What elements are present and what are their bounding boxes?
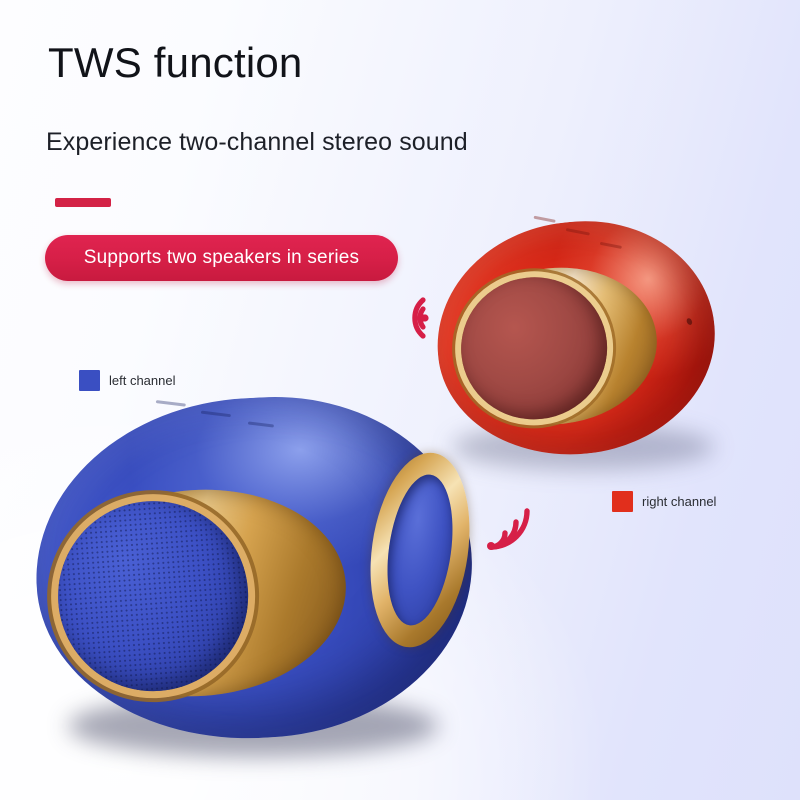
blue-speaker — [36, 398, 472, 738]
legend-right-channel: right channel — [612, 491, 716, 512]
red-speaker-buttons — [529, 215, 652, 263]
legend-swatch-left — [79, 370, 100, 391]
legend-left-channel: left channel — [79, 370, 176, 391]
accent-dash — [55, 198, 111, 207]
feature-badge-label: Supports two speakers in series — [84, 247, 360, 269]
legend-label-right: right channel — [642, 494, 716, 509]
wireless-signal-icon — [478, 498, 536, 556]
wireless-signal-icon — [393, 292, 445, 344]
tws-function-poster: TWS function Experience two-channel ster… — [0, 0, 800, 800]
red-speaker-port — [686, 317, 694, 325]
page-subtitle: Experience two-channel stereo sound — [46, 128, 468, 157]
blue-speaker-buttons — [153, 398, 305, 442]
legend-swatch-right — [612, 491, 633, 512]
legend-label-left: left channel — [109, 373, 176, 388]
page-title: TWS function — [48, 41, 302, 85]
red-speaker — [437, 222, 715, 454]
feature-badge: Supports two speakers in series — [45, 235, 398, 281]
blue-speaker-grille — [52, 495, 255, 698]
